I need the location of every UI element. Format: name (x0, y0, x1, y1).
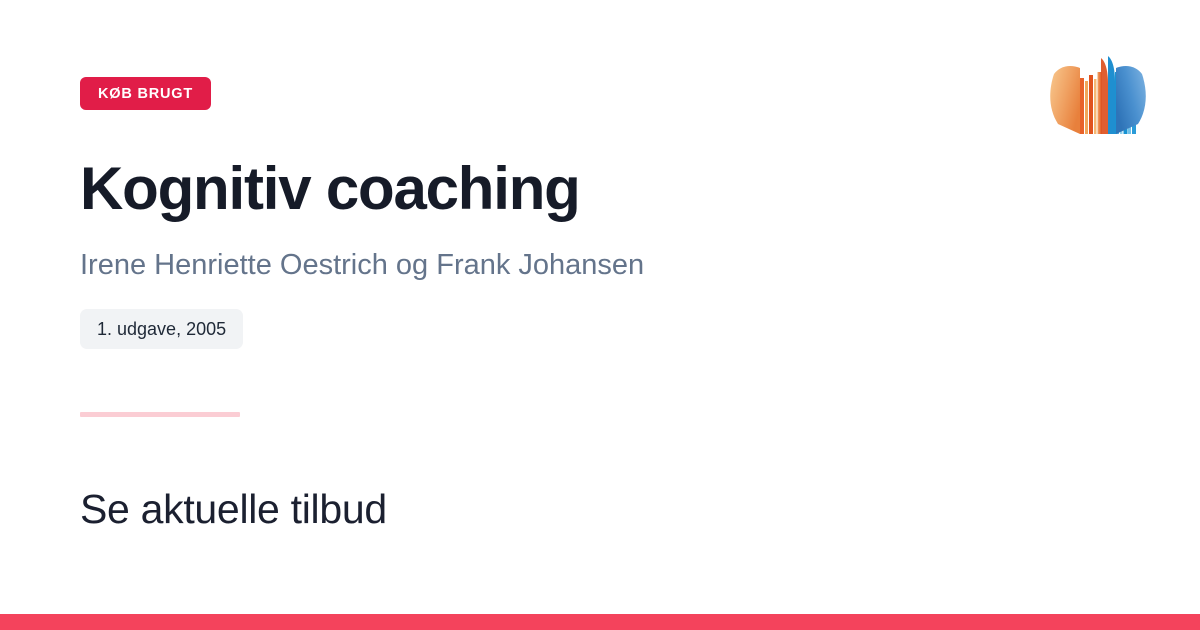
promo-card: KØB BRUGT Kognitiv coaching Irene Henrie… (0, 0, 1200, 630)
book-authors: Irene Henriette Oestrich og Frank Johans… (80, 247, 644, 285)
brand-logo[interactable] (1046, 48, 1150, 166)
condition-badge[interactable]: KØB BRUGT (80, 77, 211, 110)
bottom-accent-bar (0, 614, 1200, 630)
book-title: Kognitiv coaching (80, 155, 580, 223)
edition-chip: 1. udgave, 2005 (80, 309, 243, 349)
butterfly-book-logo-icon (1046, 48, 1150, 166)
view-offers-link[interactable]: Se aktuelle tilbud (80, 485, 387, 534)
section-divider (80, 412, 240, 417)
